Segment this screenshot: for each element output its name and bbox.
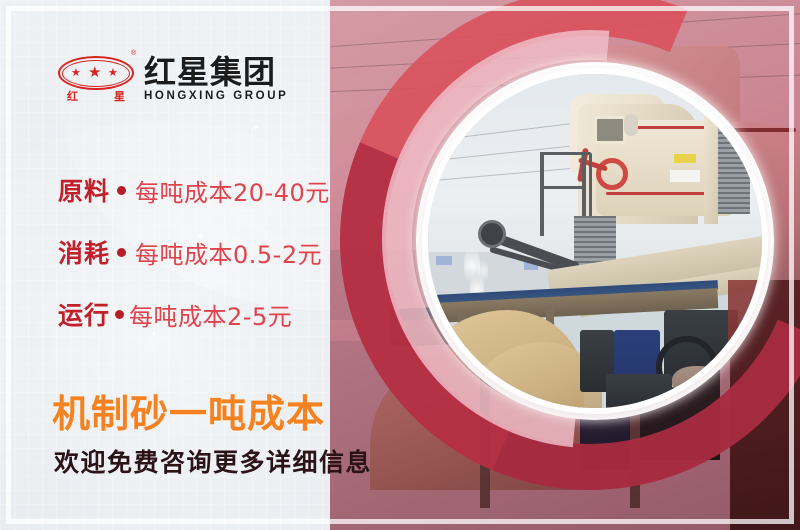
banner-border (6, 6, 794, 524)
promo-banner: ✦ ✦ ✦ ✦ (0, 0, 800, 530)
